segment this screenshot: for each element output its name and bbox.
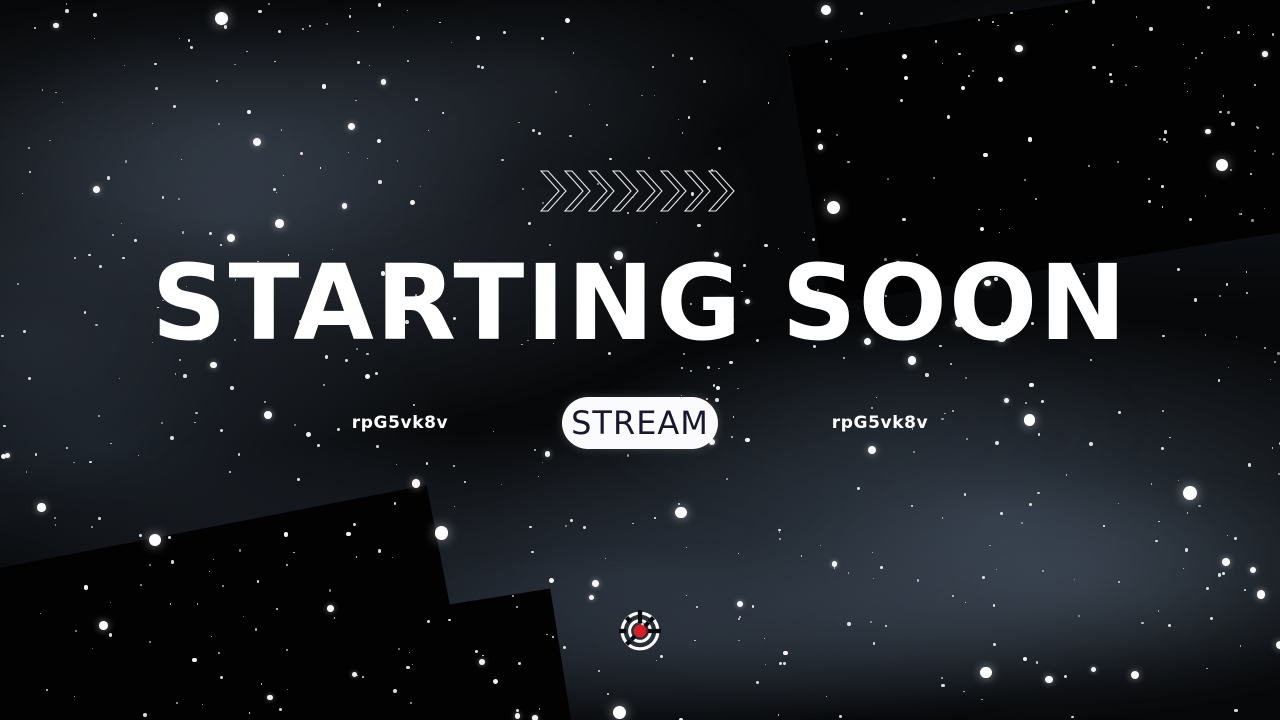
stream-badge-label: STREAM (571, 407, 709, 439)
chevrons-icon (540, 170, 740, 218)
title-text: STARTING SOON (152, 253, 1129, 363)
stream-badge[interactable]: STREAM (562, 397, 718, 449)
record-dot (634, 625, 647, 638)
chevron-row-ornament (540, 170, 740, 223)
stream-code-left: rpG5vk8v (300, 413, 500, 433)
record-icon (619, 610, 661, 652)
stream-code-right: rpG5vk8v (780, 413, 980, 433)
badge-row: rpG5vk8v STREAM rpG5vk8v (0, 397, 1280, 449)
stream-overlay-screen: STARTING SOON rpG5vk8v STREAM rpG5vk8v (0, 0, 1280, 720)
overlay-content: STARTING SOON rpG5vk8v STREAM rpG5vk8v (0, 0, 1280, 720)
page-title: STARTING SOON (0, 253, 1280, 363)
title-art: STARTING SOON (110, 253, 1170, 363)
record-indicator (619, 610, 661, 657)
